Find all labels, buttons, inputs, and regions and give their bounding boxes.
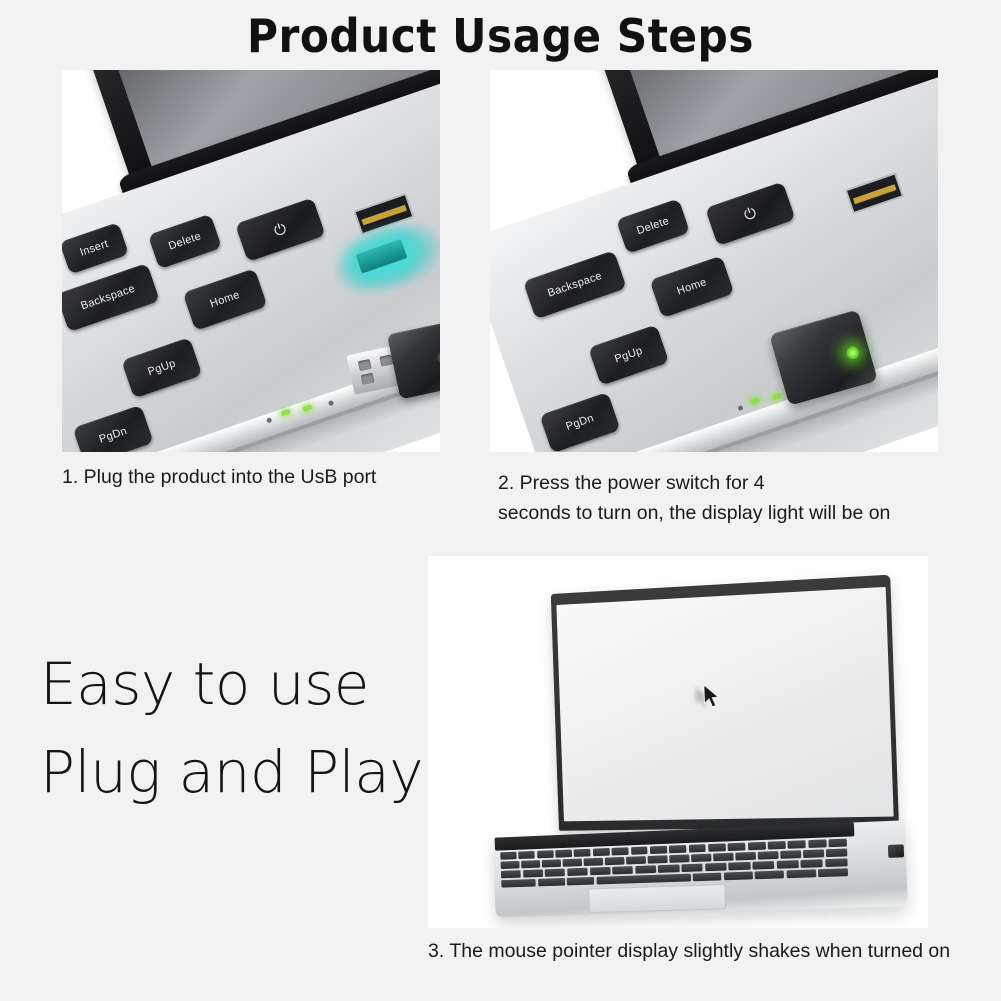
- step-1-photo: Insert Delete Backspace ⏻ Home PgUp PgDn: [62, 70, 440, 452]
- open-laptop-illustration: [446, 562, 918, 928]
- slogan-line-2: Plug and Play: [40, 728, 460, 816]
- page-title: Product Usage Steps: [40, 8, 961, 64]
- step-3-photo: [428, 556, 928, 928]
- mouse-pointer-icon: [703, 684, 722, 710]
- indicator-led-icon: [845, 345, 861, 361]
- laptop-screen: [556, 587, 893, 821]
- step-2-caption: 2. Press the power switch for 4 seconds …: [498, 468, 968, 528]
- dongle-body: [387, 322, 440, 400]
- laptop-illustration-2: Delete Backspace ⏻ Home PgUp PgDn: [490, 70, 938, 452]
- step-3-caption: 3. The mouse pointer display slightly sh…: [428, 936, 988, 966]
- usb-dongle-plugged: [888, 844, 904, 858]
- step-1-caption: 1. Plug the product into the UsB port: [62, 462, 462, 492]
- cursor-shake-group: [694, 683, 732, 723]
- laptop-base: [493, 820, 908, 917]
- step-2-photo: Delete Backspace ⏻ Home PgUp PgDn: [490, 70, 938, 452]
- slogan-line-1: Easy to use: [40, 640, 460, 728]
- laptop-lid: [551, 575, 899, 831]
- slogan: Easy to use Plug and Play: [40, 640, 460, 816]
- laptop-trackpad: [588, 884, 726, 913]
